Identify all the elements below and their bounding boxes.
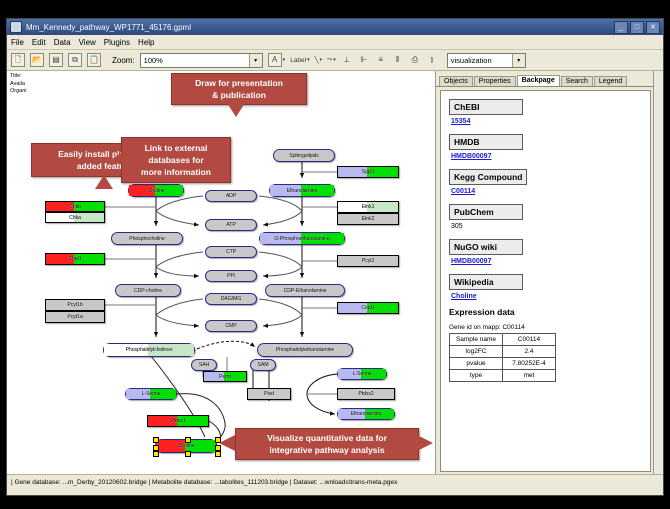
menu-item-file[interactable]: File	[11, 38, 24, 47]
metabolite-node-sam[interactable]: SAM	[250, 359, 276, 371]
gene-node-sgpl1[interactable]: Sgpl1	[337, 166, 399, 178]
metabolite-node-choline-selected[interactable]: Choline	[155, 439, 217, 453]
visualization-combobox[interactable]: visualization ▾	[447, 53, 526, 68]
visualize-callout-arrow-left	[219, 435, 235, 451]
node-label: Phosphocholine	[129, 236, 165, 242]
metabolite-node-adp[interactable]: ADP	[205, 190, 257, 202]
link-callout-arrow	[113, 149, 127, 167]
node-label: Ethanolamine	[351, 411, 382, 417]
node-label: CDP-choline	[134, 288, 162, 294]
metabolite-node-sah[interactable]: SAH	[191, 359, 217, 371]
app-icon	[10, 21, 22, 33]
gene-id-line: Gene id on mapp: C00114	[449, 324, 642, 331]
node-label: Pcyt1b	[67, 302, 82, 308]
node-label: Phosphatidylethanolamine	[276, 347, 334, 353]
pathvisio-window: Mm_Kennedy_pathway_WP1771_45176.gpml _ □…	[6, 18, 664, 496]
table-row: log2FC2.4	[450, 346, 556, 358]
distribute-icon[interactable]: ≡	[375, 54, 387, 66]
table-row: typemet	[450, 370, 556, 382]
db-link-chebi[interactable]: 15354	[451, 118, 642, 125]
node-label: Pemt	[219, 374, 231, 380]
pathway-canvas[interactable]: Title: Availa Organi	[7, 71, 436, 474]
plugins-callout-arrow	[95, 175, 113, 189]
tab-backpage[interactable]: Backpage	[517, 75, 560, 86]
metabolite-node-cdp-choline[interactable]: CDP-choline	[115, 284, 181, 297]
gene-node-pcyt1a[interactable]: Pcyt1a	[45, 311, 105, 323]
table-cell-value: 7.80252E-4	[503, 358, 556, 370]
node-label: Chpt1	[68, 256, 81, 262]
node-label: Ptdss1	[170, 418, 185, 424]
zoom-combobox[interactable]: 100% ▾	[140, 53, 263, 68]
side-panel-tabs: ObjectsPropertiesBackpageSearchLegend	[436, 71, 653, 87]
node-label: SAM	[258, 362, 269, 368]
selection-handle[interactable]	[153, 437, 159, 443]
node-label: DAG/MG	[221, 296, 241, 302]
selection-handle[interactable]	[185, 451, 191, 457]
node-label: Pcyt2	[362, 258, 374, 264]
window-title: Mm_Kennedy_pathway_WP1771_45176.gpml	[26, 23, 191, 32]
new-file-icon[interactable]: 🗋	[11, 53, 25, 67]
metabolite-node-choline-top[interactable]: Choline	[128, 184, 184, 197]
arrow-icon: ⤳	[327, 56, 332, 64]
metabolite-node-ethanolamine-top[interactable]: Ethanolamine	[269, 184, 335, 197]
db-header-nugo-wiki: NuGO wiki	[449, 239, 523, 255]
print-icon[interactable]: ⎙	[409, 54, 421, 66]
copy-icon[interactable]: ⧉	[68, 53, 82, 67]
db-header-kegg-compound: Kegg Compound	[449, 169, 527, 185]
metabolite-node-sphingolipids[interactable]: Sphingolipids	[273, 149, 335, 162]
node-label: Etnk2	[362, 216, 375, 222]
title-bar: Mm_Kennedy_pathway_WP1771_45176.gpml _ □…	[7, 19, 663, 35]
label-dropdown[interactable]: Label ▾	[290, 57, 309, 64]
metabolite-node-dag-mg[interactable]: DAG/MG	[205, 293, 257, 305]
menu-bar: File Edit Data View Plugins Help	[7, 35, 663, 50]
tab-properties[interactable]: Properties	[474, 76, 516, 86]
metabolite-node-phosphatidylcholines[interactable]: Phosphatidylcholines	[103, 343, 195, 357]
gene-node-etnk2[interactable]: Etnk2	[337, 213, 399, 225]
visualize-callout: Visualize quantitative data forintegrati…	[235, 428, 419, 460]
db-link-wikipedia[interactable]: Choline	[451, 293, 642, 300]
pathway-meta: Title: Availa Organi	[10, 73, 27, 96]
side-panel: ObjectsPropertiesBackpageSearchLegend Ch…	[436, 71, 653, 474]
status-text: | Gene database: ...m_Derby_20120602.bri…	[11, 479, 397, 486]
table-cell-value: C00114	[503, 334, 556, 346]
chevron-down-icon[interactable]: ▾	[333, 57, 336, 63]
node-label: L-Serine	[353, 371, 372, 377]
db-link-hmdb[interactable]: HMDB00097	[451, 153, 642, 160]
menu-item-data[interactable]: Data	[54, 38, 71, 47]
close-button[interactable]: ✕	[646, 21, 660, 34]
line-dropdown[interactable]: ╲ ▾	[315, 56, 322, 64]
maximize-button[interactable]: □	[630, 21, 644, 34]
expression-data-table: Sample nameC00114log2FC2.4pvalue7.80252E…	[449, 333, 556, 382]
node-label: CMP	[225, 323, 236, 329]
meta-availability: Availa	[10, 81, 27, 89]
gene-node-ptdss1[interactable]: Ptdss1	[147, 415, 209, 427]
metabolite-node-ppi[interactable]: PPi	[205, 270, 257, 282]
node-label: Phosphatidylcholines	[126, 347, 173, 353]
callout-text: Draw for presentation& publication	[195, 77, 283, 101]
metabolite-node-ethanolamine-bottom[interactable]: Ethanolamine	[337, 408, 395, 420]
chevron-down-icon[interactable]: ▾	[512, 54, 525, 67]
panel-scrollbar[interactable]	[653, 71, 663, 474]
node-label: Choline	[178, 443, 195, 449]
node-label: Choline	[148, 188, 165, 194]
node-label: CDP-Ethanolamine	[284, 288, 327, 294]
table-row: pvalue7.80252E-4	[450, 358, 556, 370]
group-icon[interactable]: ⦀	[392, 54, 404, 66]
chevron-down-icon[interactable]: ▾	[283, 57, 286, 63]
node-label: ATP	[226, 222, 235, 228]
tab-objects[interactable]: Objects	[439, 76, 473, 86]
metabolite-node-phosphatidylethanolamine[interactable]: Phosphatidylethanolamine	[257, 343, 353, 357]
metabolite-node-phosphocholine[interactable]: Phosphocholine	[111, 232, 183, 245]
node-label: Cept1	[361, 305, 374, 311]
minimize-button[interactable]: _	[614, 21, 628, 34]
node-label: Chka	[69, 215, 81, 221]
table-cell-value: met	[503, 370, 556, 382]
node-label: L-Serine	[142, 391, 161, 397]
node-label: ADP	[226, 193, 236, 199]
menu-item-help[interactable]: Help	[138, 38, 154, 47]
node-label: Sgpl1	[362, 169, 375, 175]
line-icon: ╲	[315, 56, 319, 64]
meta-organism: Organi	[10, 88, 27, 96]
node-label: O-Phosphoethanolamine	[274, 236, 329, 242]
visualization-value: visualization	[451, 56, 492, 65]
link-callout: Link to externaldatabases formore inform…	[121, 137, 231, 183]
node-label: Etnk1	[362, 204, 375, 210]
gene-node-pisd[interactable]: Pisd	[247, 388, 291, 400]
gene-node-chpt1[interactable]: Chpt1	[45, 253, 105, 265]
node-label: Ptdss2	[358, 391, 373, 397]
node-label: Chkb	[69, 204, 81, 210]
menu-item-edit[interactable]: Edit	[32, 38, 46, 47]
status-bar: | Gene database: ...m_Derby_20120602.bri…	[7, 474, 663, 489]
label-dropdown-label: Label	[290, 57, 306, 64]
tab-legend[interactable]: Legend	[594, 76, 627, 86]
db-header-hmdb: HMDB	[449, 134, 523, 150]
paste-icon[interactable]: 📋	[87, 53, 101, 67]
metabolite-node-cdp-ethanolamine[interactable]: CDP-Ethanolamine	[265, 284, 345, 297]
zoom-label: Zoom:	[112, 56, 135, 65]
selection-handle[interactable]	[215, 451, 221, 457]
meta-title: Title:	[10, 73, 27, 81]
backpage-content[interactable]: ChEBI15354HMDBHMDB00097Kegg CompoundC001…	[440, 90, 651, 472]
align-left-icon[interactable]: ⊩	[358, 54, 370, 66]
node-label: Pisd	[264, 391, 274, 397]
table-cell-key: type	[450, 370, 503, 382]
menu-item-view[interactable]: View	[79, 38, 96, 47]
callout-text: Visualize quantitative data forintegrati…	[267, 432, 387, 456]
window-controls: _ □ ✕	[614, 21, 660, 34]
visualize-callout-arrow-right	[417, 435, 433, 451]
metabolite-node-l-serine-left[interactable]: L-Serine	[125, 388, 177, 400]
expression-data-heading: Expression data	[449, 307, 642, 317]
chevron-down-icon[interactable]: ▾	[307, 57, 310, 63]
gene-node-chka[interactable]: Chka	[45, 212, 105, 223]
node-label: CTP	[226, 249, 236, 255]
metabolite-node-o-phosphoethanolamine[interactable]: O-Phosphoethanolamine	[259, 232, 345, 245]
zoom-value: 100%	[144, 56, 163, 65]
font-dropdown[interactable]: A ▾	[268, 53, 286, 67]
save-icon[interactable]: ▤	[49, 53, 63, 67]
db-link-kegg-compound[interactable]: C00114	[451, 188, 642, 195]
selection-handle[interactable]	[185, 437, 191, 443]
arrow-dropdown[interactable]: ⤳ ▾	[327, 56, 336, 64]
font-icon: A	[268, 53, 282, 67]
db-header-pubchem: PubChem	[449, 204, 523, 220]
node-label: Ethanolamine	[287, 188, 318, 194]
db-header-wikipedia: Wikipedia	[449, 274, 523, 290]
gene-node-pcyt1b[interactable]: Pcyt1b	[45, 299, 105, 311]
stack-icon[interactable]: ⫾	[426, 54, 438, 66]
table-cell-key: Sample name	[450, 334, 503, 346]
gene-node-chkb[interactable]: Chkb	[45, 201, 105, 212]
db-link-nugo-wiki[interactable]: HMDB00097	[451, 258, 642, 265]
workspace: Title: Availa Organi	[7, 71, 663, 474]
chevron-down-icon[interactable]: ▾	[320, 57, 323, 63]
gene-node-pemt[interactable]: Pemt	[203, 371, 247, 382]
table-cell-value: 2.4	[503, 346, 556, 358]
metabolite-node-l-serine-right[interactable]: L-Serine	[337, 368, 387, 380]
node-label: PPi	[227, 273, 235, 279]
gene-node-cept1[interactable]: Cept1	[337, 302, 399, 314]
tab-search[interactable]: Search	[561, 76, 593, 86]
menu-item-plugins[interactable]: Plugins	[104, 38, 130, 47]
selection-handle[interactable]	[153, 451, 159, 457]
metabolite-node-atp[interactable]: ATP	[205, 219, 257, 231]
metabolite-node-cmp[interactable]: CMP	[205, 320, 257, 332]
node-label: Pcyt1a	[67, 314, 82, 320]
draw-callout-arrow	[227, 103, 245, 117]
table-cell-key: pvalue	[450, 358, 503, 370]
db-header-chebi: ChEBI	[449, 99, 523, 115]
align-center-icon[interactable]: ⟂	[341, 54, 353, 66]
table-row: Sample nameC00114	[450, 334, 556, 346]
toolbar: 🗋 📂 ▤ ⧉ 📋 Zoom: 100% ▾ A ▾ Label ▾ ╲ ▾ ⤳…	[7, 50, 663, 71]
gene-node-etnk1[interactable]: Etnk1	[337, 201, 399, 213]
gene-node-ptdss2[interactable]: Ptdss2	[337, 388, 395, 400]
db-value-pubchem: 305	[451, 223, 642, 230]
node-label: Sphingolipids	[289, 153, 319, 159]
node-label: SAH	[199, 362, 209, 368]
chevron-down-icon[interactable]: ▾	[249, 54, 262, 67]
gene-node-pcyt2[interactable]: Pcyt2	[337, 255, 399, 267]
table-cell-key: log2FC	[450, 346, 503, 358]
open-folder-icon[interactable]: 📂	[30, 53, 44, 67]
metabolite-node-ctp[interactable]: CTP	[205, 246, 257, 258]
callout-text: Link to externaldatabases formore inform…	[141, 142, 211, 178]
draw-callout: Draw for presentation& publication	[171, 73, 307, 105]
